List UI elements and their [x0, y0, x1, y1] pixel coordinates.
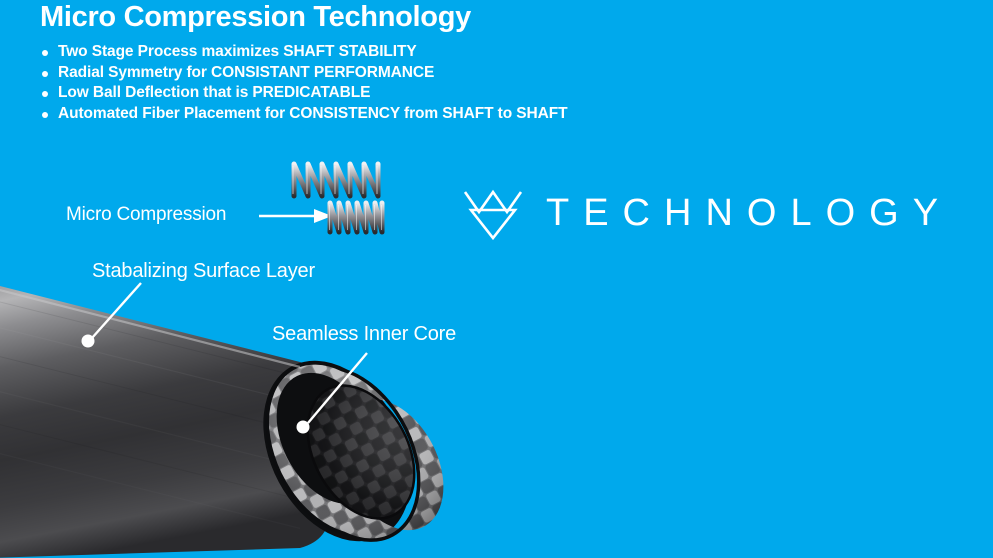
bullet-text: Low Ball Deflection that is PREDICATABLE: [58, 84, 370, 101]
list-item: Radial Symmetry for CONSISTANT PERFORMAN…: [40, 63, 567, 84]
brand-lockup: TECHNOLOGY: [462, 185, 952, 241]
callout-label-micro-compression: Micro Compression: [66, 204, 226, 226]
relaxed-spring-icon: [288, 158, 392, 202]
bullet-dot-icon: [42, 50, 48, 56]
double-v-chevron-logo-icon: [462, 185, 524, 241]
compressed-spring-icon: [325, 198, 387, 238]
slide-canvas: Micro Compression Technology Two Stage P…: [0, 0, 993, 558]
leader-line-inner-core: [308, 353, 367, 423]
feature-bullet-list: Two Stage Process maximizes SHAFT STABIL…: [40, 42, 567, 124]
list-item: Two Stage Process maximizes SHAFT STABIL…: [40, 42, 567, 63]
bullet-text: Two Stage Process maximizes SHAFT STABIL…: [58, 43, 417, 60]
bullet-text: Automated Fiber Placement for CONSISTENC…: [58, 105, 567, 122]
list-item: Low Ball Deflection that is PREDICATABLE: [40, 83, 567, 104]
callout-label-stabalizing-surface-layer: Stabalizing Surface Layer: [92, 260, 315, 283]
callout-label-seamless-inner-core: Seamless Inner Core: [272, 323, 456, 346]
list-item: Automated Fiber Placement for CONSISTENC…: [40, 104, 567, 125]
bullet-dot-icon: [42, 71, 48, 77]
page-title: Micro Compression Technology: [40, 0, 471, 35]
callout-dot-inner-core: [297, 421, 310, 434]
callout-dot-surface-layer: [82, 335, 95, 348]
leader-line-surface-layer: [92, 283, 141, 338]
bullet-dot-icon: [42, 91, 48, 97]
brand-wordmark: TECHNOLOGY: [546, 193, 952, 233]
bullet-dot-icon: [42, 112, 48, 118]
bullet-text: Radial Symmetry for CONSISTANT PERFORMAN…: [58, 64, 434, 81]
